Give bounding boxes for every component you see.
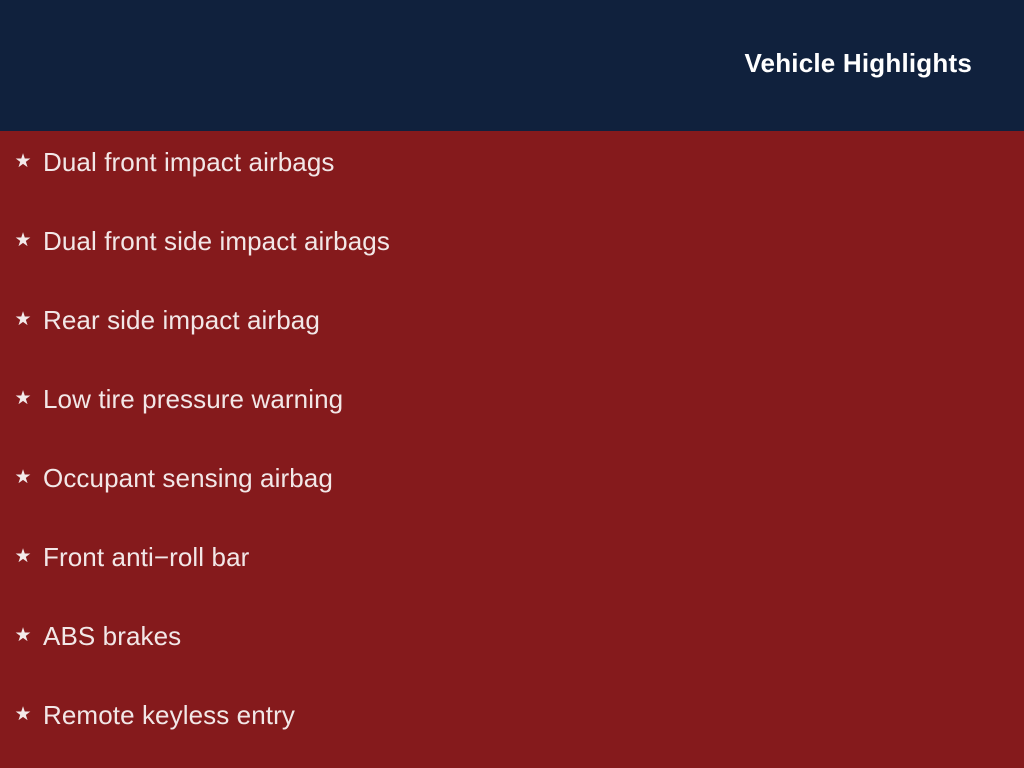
feature-label: Occupant sensing airbag bbox=[43, 461, 1024, 495]
list-item: ★ Dual front impact airbags bbox=[0, 145, 1024, 224]
star-icon: ★ bbox=[14, 619, 32, 653]
feature-label: Dual front impact airbags bbox=[43, 145, 1024, 179]
feature-label: Front anti−roll bar bbox=[43, 540, 1024, 574]
feature-label: Remote keyless entry bbox=[43, 698, 1024, 732]
list-item: ★ Front anti−roll bar bbox=[0, 540, 1024, 619]
vehicle-highlights-slide: Vehicle Highlights ★ Dual front impact a… bbox=[0, 0, 1024, 768]
list-item: ★ Low tire pressure warning bbox=[0, 382, 1024, 461]
header-band: Vehicle Highlights bbox=[0, 0, 1024, 131]
features-panel: ★ Dual front impact airbags ★ Dual front… bbox=[0, 131, 1024, 768]
star-icon: ★ bbox=[14, 224, 32, 258]
list-item: ★ Remote keyless entry bbox=[0, 698, 1024, 768]
list-item: ★ Dual front side impact airbags bbox=[0, 224, 1024, 303]
star-icon: ★ bbox=[14, 303, 32, 337]
star-icon: ★ bbox=[14, 540, 32, 574]
feature-label: Rear side impact airbag bbox=[43, 303, 1024, 337]
star-icon: ★ bbox=[14, 698, 32, 732]
star-icon: ★ bbox=[14, 461, 32, 495]
feature-label: Dual front side impact airbags bbox=[43, 224, 1024, 258]
star-icon: ★ bbox=[14, 145, 32, 179]
star-icon: ★ bbox=[14, 382, 32, 416]
feature-list: ★ Dual front impact airbags ★ Dual front… bbox=[0, 145, 1024, 768]
page-title: Vehicle Highlights bbox=[744, 46, 972, 80]
feature-label: Low tire pressure warning bbox=[43, 382, 1024, 416]
feature-label: ABS brakes bbox=[43, 619, 1024, 653]
list-item: ★ ABS brakes bbox=[0, 619, 1024, 698]
list-item: ★ Rear side impact airbag bbox=[0, 303, 1024, 382]
list-item: ★ Occupant sensing airbag bbox=[0, 461, 1024, 540]
